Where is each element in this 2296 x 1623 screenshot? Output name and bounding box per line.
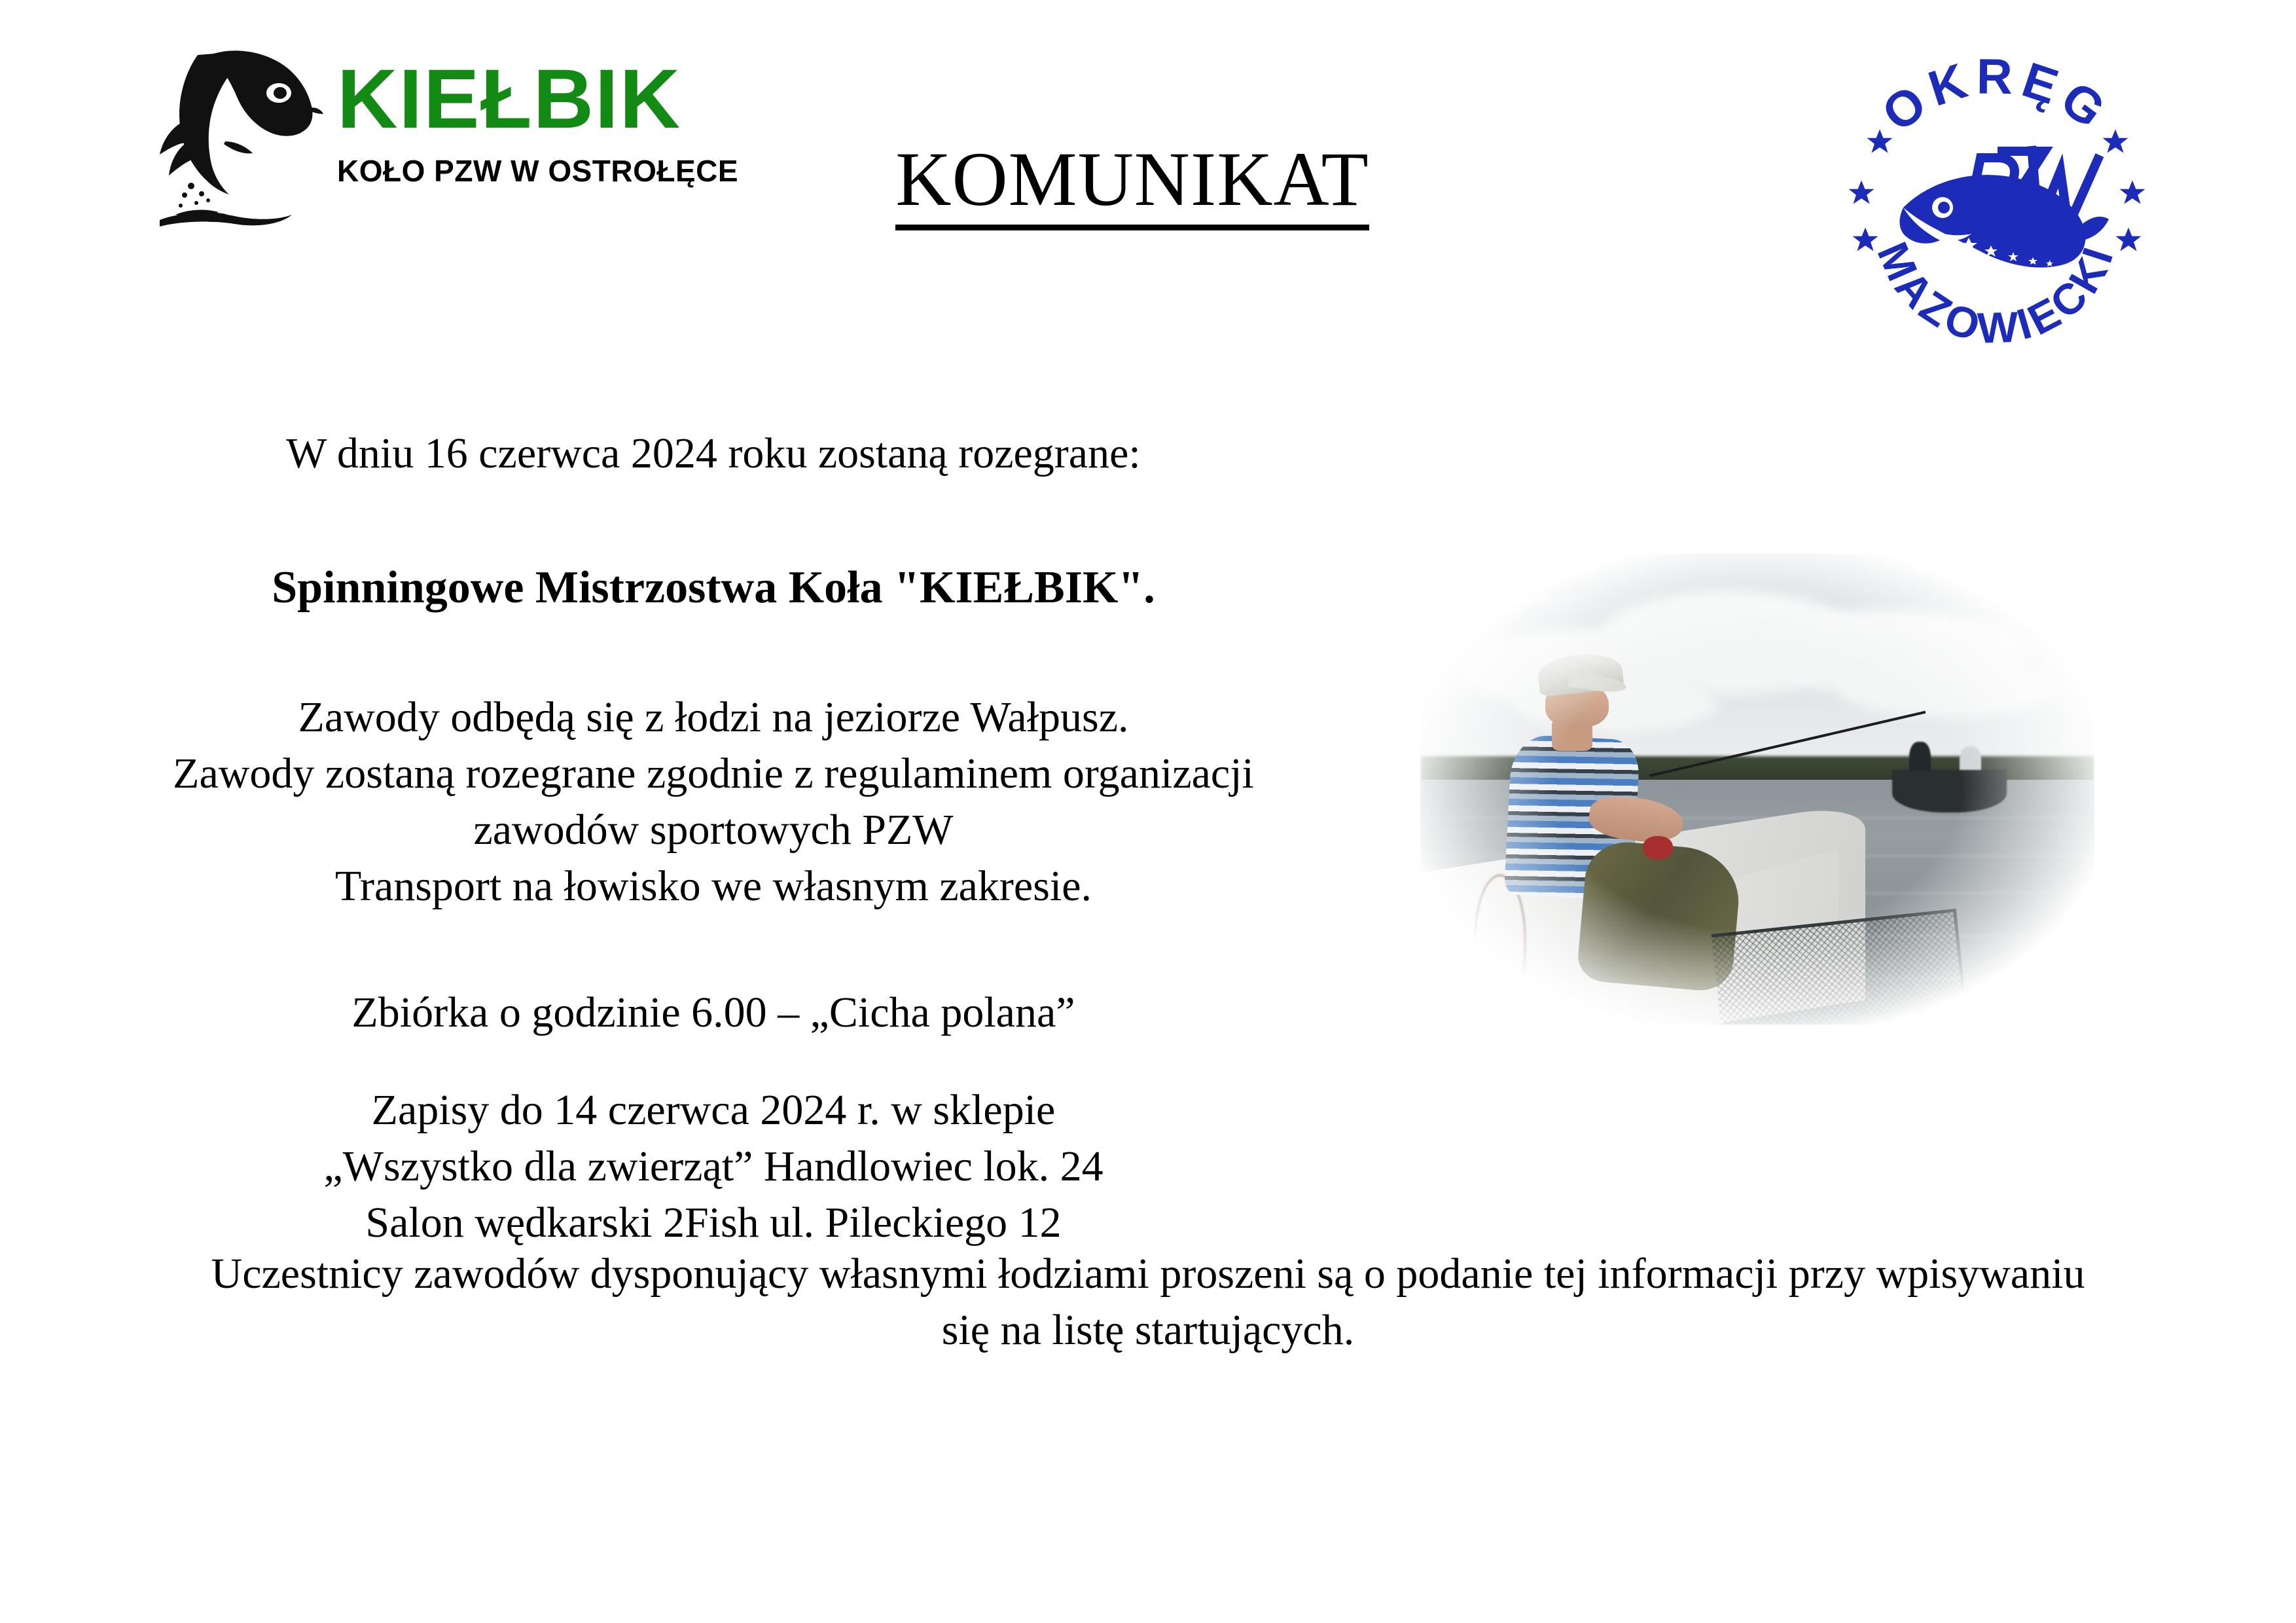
- rules-line-2: Zawody zostaną rozegrane zgodnie z regul…: [0, 746, 1427, 802]
- page-title-wrap: KOMUNIKAT: [772, 141, 1492, 230]
- footer-note-line-2: się na listę startujących.: [79, 1302, 2217, 1359]
- photo-cloud: [1839, 657, 2054, 718]
- signup-block: Zapisy do 14 czerwca 2024 r. w sklepie „…: [0, 1082, 1427, 1250]
- club-logo: KIEŁBIK KOŁO PZW W OSTROŁĘCE: [151, 39, 805, 236]
- meeting-block: Zbiórka o godzinie 6.00 – „Cicha polana”: [0, 985, 1427, 1041]
- meeting-line: Zbiórka o godzinie 6.00 – „Cicha polana”: [0, 985, 1427, 1041]
- photo-distant-boat: [1892, 770, 2007, 812]
- photo-reel: [1643, 836, 1673, 860]
- photo-inner: [1420, 553, 2094, 1025]
- rules-block: Zawody odbędą się z łodzi na jeziorze Wa…: [0, 689, 1427, 914]
- rules-line-4: Transport na łowisko we własnym zakresie…: [0, 858, 1427, 915]
- document-header: KIEŁBIK KOŁO PZW W OSTROŁĘCE KOMUNIKAT O…: [0, 0, 2296, 419]
- page-title: KOMUNIKAT: [895, 141, 1369, 230]
- jumping-fish-icon: [151, 46, 327, 236]
- signup-line-1: Zapisy do 14 czerwca 2024 r. w sklepie: [0, 1082, 1427, 1139]
- event-headline: Spinningowe Mistrzostwa Koła "KIEŁBIK".: [0, 559, 1427, 617]
- footer-note-line-1: Uczestnicy zawodów dysponujący własnymi …: [79, 1246, 2217, 1302]
- angler-in-boat-photo: [1420, 553, 2094, 1025]
- svg-text:OKRĘG: OKRĘG: [1872, 49, 2120, 143]
- signup-line-3: Salon wędkarski 2Fish ul. Pileckiego 12: [0, 1195, 1427, 1251]
- footer-note: Uczestnicy zawodów dysponujący własnymi …: [79, 1246, 2217, 1359]
- club-name: KIEŁBIK: [337, 58, 769, 141]
- pzw-okreg-mazowiecki-seal: OKRĘG MAZOWIECKI: [1820, 29, 2173, 383]
- signup-line-2: „Wszystko dla zwierząt” Handlowiec lok. …: [0, 1139, 1427, 1195]
- intro-line: W dniu 16 czerwca 2024 roku zostaną roze…: [0, 426, 1427, 482]
- document-body: W dniu 16 czerwca 2024 roku zostaną roze…: [0, 419, 1427, 1041]
- club-subtitle: KOŁO PZW W OSTROŁĘCE: [337, 156, 769, 186]
- rules-line-1: Zawody odbędą się z łodzi na jeziorze Wa…: [0, 689, 1427, 746]
- rules-line-3: zawodów sportowych PZW: [0, 802, 1427, 858]
